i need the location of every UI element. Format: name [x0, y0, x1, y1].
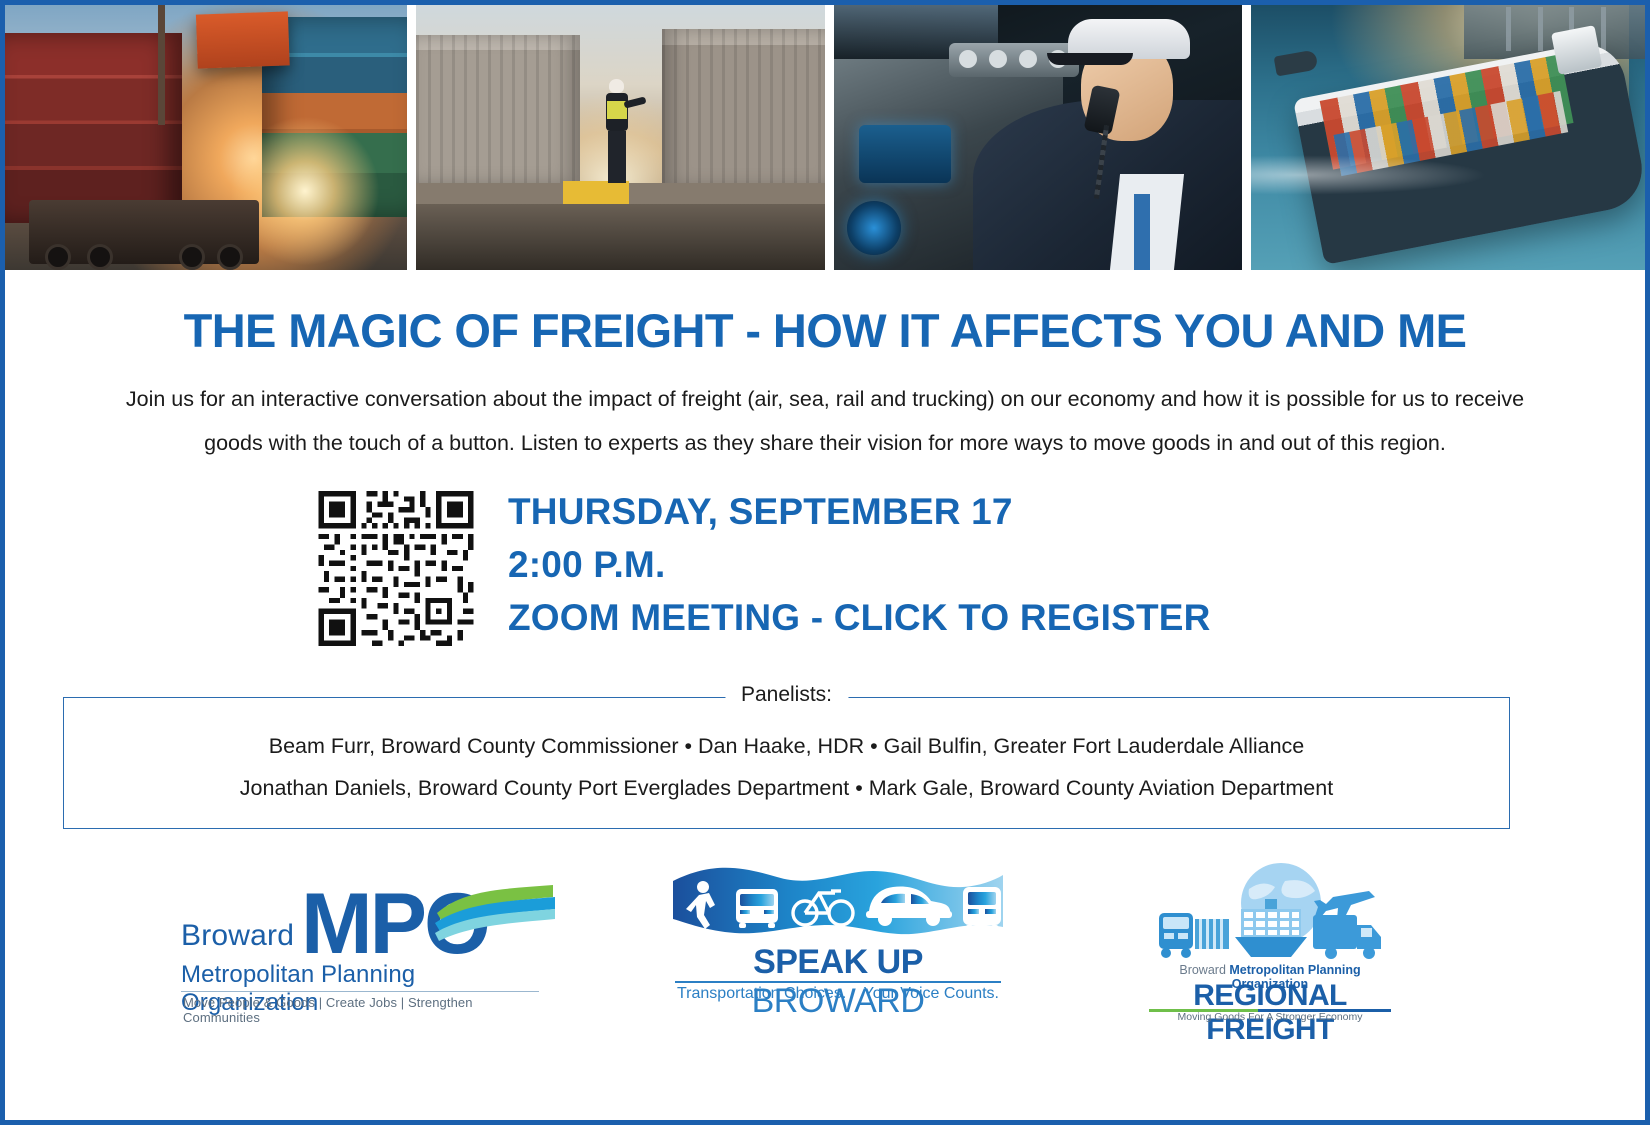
- rf-eyebrow-grey: Broward: [1179, 963, 1226, 977]
- rail-car-left: [416, 35, 580, 185]
- speak-up-divider: [675, 981, 1001, 983]
- photo-strip: [5, 5, 1645, 270]
- mpo-broward-word: Broward: [181, 919, 294, 953]
- speak-up-tagline-right: Your Voice Counts.: [864, 985, 1000, 1003]
- logo-row: Broward MPO Metropolitan Planning Organi…: [5, 853, 1645, 1033]
- regional-freight-art: [1145, 859, 1395, 963]
- radar-dial-icon: [847, 201, 901, 255]
- event-details: THURSDAY, SEPTEMBER 17 2:00 P.M. ZOOM ME…: [5, 485, 1645, 655]
- mpo-wordmark: Broward MPO: [181, 865, 551, 961]
- gantry-crane-icon: [1601, 7, 1606, 51]
- page-title: THE MAGIC OF FREIGHT - HOW IT AFFECTS YO…: [5, 303, 1645, 358]
- truck-icon: [29, 200, 259, 264]
- wheel: [45, 244, 71, 270]
- cap-brim: [1047, 53, 1133, 65]
- qr-code[interactable]: [312, 491, 480, 646]
- panelists-line-2: Jonathan Daniels, Broward County Port Ev…: [64, 776, 1509, 801]
- panelists-line-1: Beam Furr, Broward County Commissioner •…: [64, 734, 1509, 759]
- captain-tie: [1134, 194, 1150, 270]
- panelists-box: Panelists: Beam Furr, Broward County Com…: [63, 697, 1510, 829]
- intro-paragraph: Join us for an interactive conversation …: [95, 377, 1555, 465]
- mpo-divider: [181, 991, 539, 992]
- broward-mpo-logo: Broward MPO Metropolitan Planning Organi…: [181, 865, 551, 1017]
- event-date-time-block: THURSDAY, SEPTEMBER 17 2:00 P.M. ZOOM ME…: [508, 485, 1211, 644]
- photo-rail-worker: [416, 5, 826, 270]
- worker-helmet: [609, 79, 624, 93]
- wheel: [179, 244, 205, 270]
- rail-ground: [416, 204, 826, 270]
- wheel: [217, 244, 243, 270]
- crane-mast-icon: [158, 5, 165, 125]
- mpo-tagline: Move People & Goods | Create Jobs | Stre…: [183, 995, 541, 1025]
- register-link[interactable]: ZOOM MEETING - CLICK TO REGISTER: [508, 591, 1211, 644]
- gantry-crane-icon: [1538, 7, 1543, 51]
- display-screen: [859, 125, 951, 183]
- worker-legs: [608, 131, 626, 183]
- airplane-icon: [1314, 891, 1375, 919]
- ship-bridge: [1552, 25, 1603, 75]
- speak-up-bold: SPEAK UP: [753, 943, 923, 981]
- worker-figure-icon: [604, 79, 630, 183]
- multimodal-icons: [673, 863, 1003, 941]
- bus-icon: [736, 889, 778, 928]
- captain-figure: [973, 13, 1242, 270]
- speak-up-broward-logo: SPEAK UP BROWARD Transportation Choices.…: [673, 863, 1003, 1019]
- gantry-crane-icon: [1506, 7, 1511, 51]
- speak-up-wave-art: [673, 863, 1003, 941]
- regional-freight-tagline: Moving Goods For A Stronger Economy: [1145, 1011, 1395, 1023]
- photo-container-ship: [1251, 5, 1645, 270]
- corrugation: [662, 29, 826, 187]
- corrugation: [416, 35, 580, 185]
- photo-captain-cockpit: [834, 5, 1242, 270]
- register-link-text[interactable]: ZOOM MEETING - CLICK TO REGISTER: [508, 597, 1211, 638]
- tugboat-icon: [1273, 50, 1318, 77]
- freight-modes-icons: [1145, 859, 1395, 963]
- train-icon: [1159, 913, 1193, 958]
- mpo-swoosh-icon: [435, 883, 555, 945]
- event-time: 2:00 P.M.: [508, 538, 1211, 591]
- speak-up-tagline-left: Transportation Choices.: [677, 985, 846, 1003]
- photo-truck-containers: [5, 5, 407, 270]
- wheel: [87, 244, 113, 270]
- ship-wake: [1251, 155, 1487, 195]
- container-icon: [1195, 919, 1229, 949]
- regional-freight-logo: Broward Metropolitan Planning Organizati…: [1145, 859, 1395, 1024]
- panelists-legend: Panelists:: [725, 683, 848, 707]
- flyer-root: THE MAGIC OF FREIGHT - HOW IT AFFECTS YO…: [0, 0, 1650, 1125]
- suspended-container: [196, 11, 290, 68]
- container-stack-left: [5, 33, 182, 223]
- train-icon: [963, 887, 1001, 930]
- event-date: THURSDAY, SEPTEMBER 17: [508, 485, 1211, 538]
- truck-icon: [1313, 915, 1381, 959]
- rail-car-right: [662, 29, 826, 187]
